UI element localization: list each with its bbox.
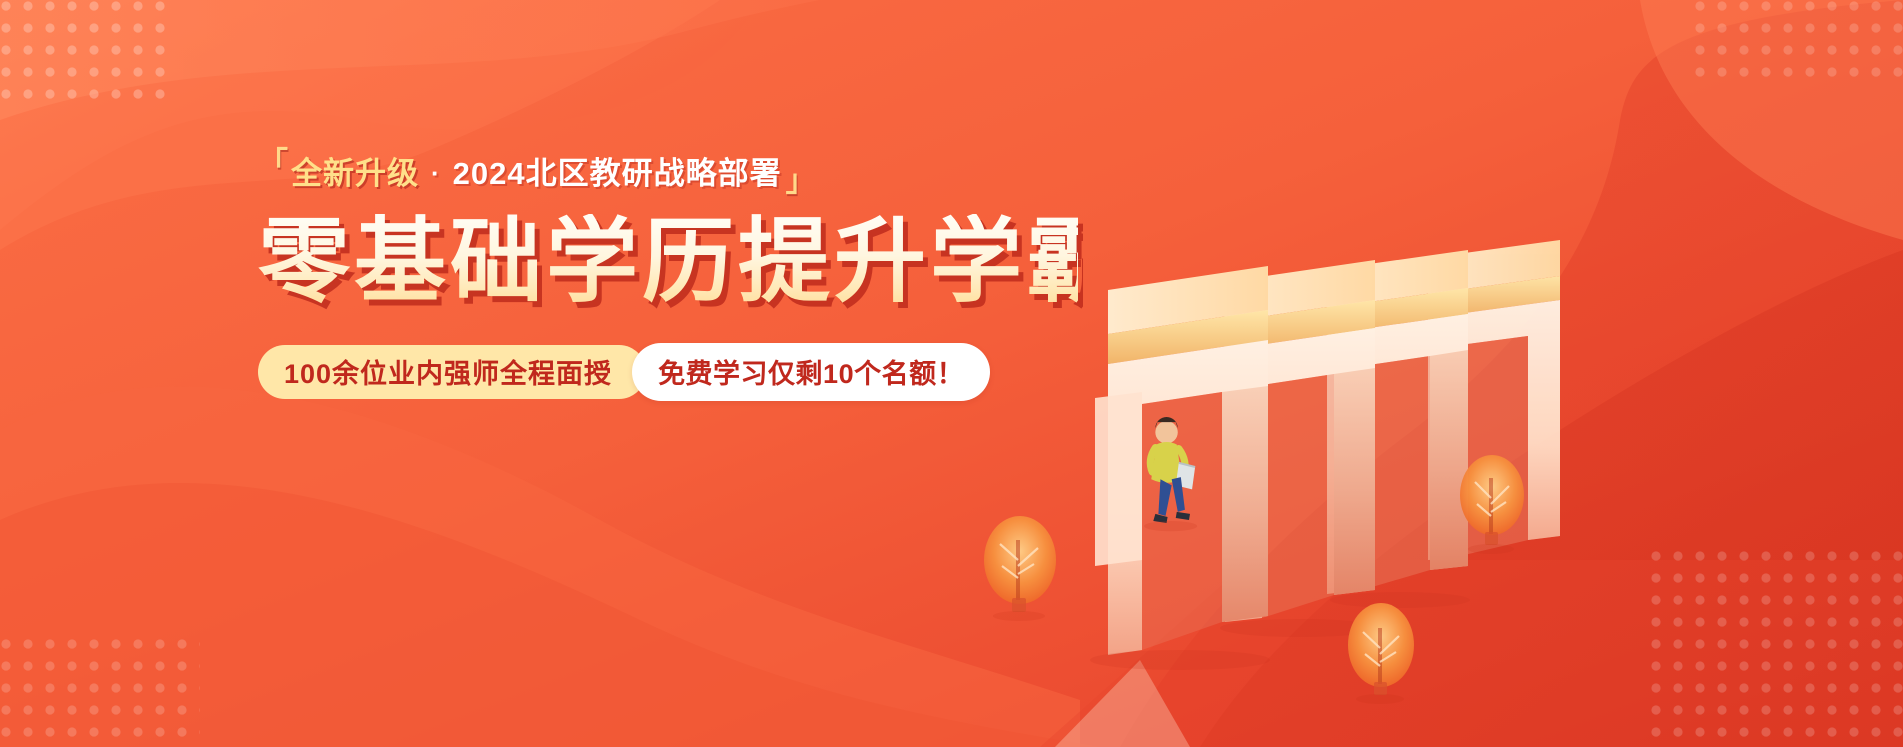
promo-banner: 「 全新升级 · 2024北区教研战略部署 」 零基础学历提升学霸班 100余位…	[0, 0, 1903, 747]
subtitle-separator-dot: ·	[431, 160, 441, 186]
subtitle-highlight: 全新升级	[291, 158, 419, 189]
banner-subtitle: 「 全新升级 · 2024北区教研战略部署 」	[258, 152, 1078, 194]
banner-pill-row: 100余位业内强师全程面授 免费学习仅剩10个名额！	[258, 343, 990, 401]
feature-pill-free-slots-label: 免费学习仅剩10个名额！	[658, 352, 964, 391]
feature-pill-instructors[interactable]: 100余位业内强师全程面授	[258, 345, 646, 399]
bracket-open-icon: 「	[258, 149, 289, 179]
feature-pill-free-slots[interactable]: 免费学习仅剩10个名额！	[632, 343, 990, 401]
banner-headline: 零基础学历提升学霸班	[258, 214, 1078, 317]
subtitle-rest: 2024北区教研战略部署	[453, 158, 782, 189]
feature-pill-instructors-label: 100余位业内强师全程面授	[284, 352, 612, 391]
bracket-close-icon: 」	[786, 167, 817, 197]
banner-text-block: 「 全新升级 · 2024北区教研战略部署 」 零基础学历提升学霸班 100余位…	[258, 152, 1078, 401]
